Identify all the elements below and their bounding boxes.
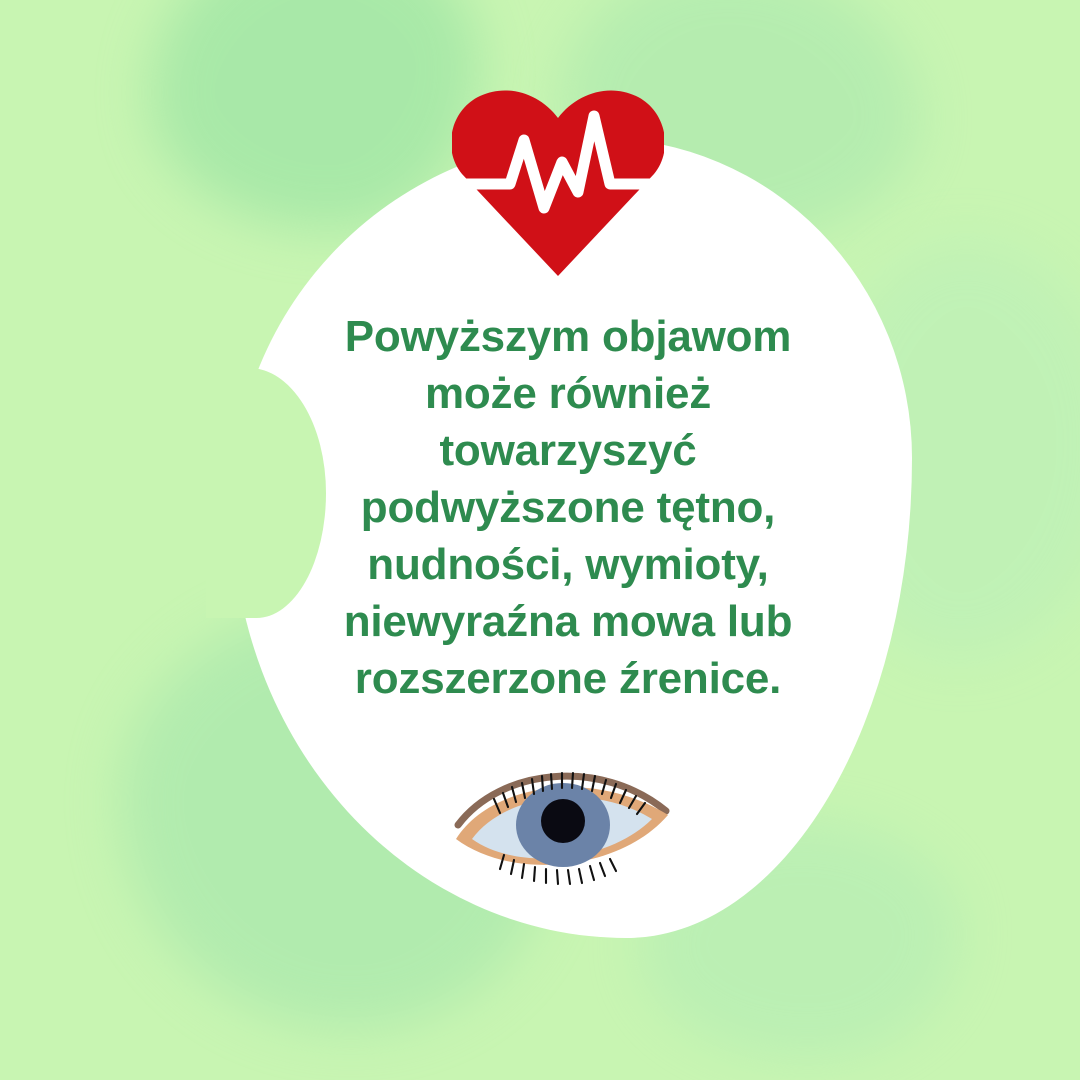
dilated-pupil-eye-icon [450,763,685,888]
logo-strip: dmhas D C P [0,958,1080,1080]
message-line-4: podwyższone tętno, [268,479,868,536]
message-line-6: niewyraźna mowa lub [268,593,868,650]
message-line-1: Powyższym objawom [268,308,868,365]
message-line-2: może również [268,365,868,422]
message-line-5: nudności, wymioty, [268,536,868,593]
heart-pulse-icon [452,88,664,278]
poster-canvas: Powyższym objawom może również towarzysz… [0,0,1080,1080]
message-line-7: rozszerzone źrenice. [268,650,868,707]
message-line-3: towarzyszyć [268,422,868,479]
page-message: Powyższym objawom może również towarzysz… [268,308,868,707]
